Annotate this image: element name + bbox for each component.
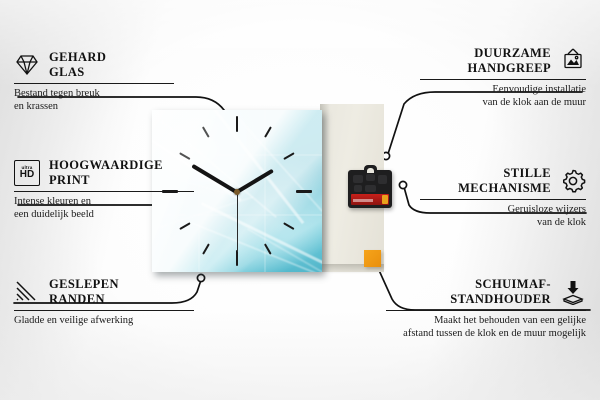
feature-description: Intense kleuren en een duidelijk beeld: [14, 196, 194, 221]
feature-title: STILLE MECHANISME: [458, 166, 551, 195]
divider: [386, 310, 586, 311]
feature-description: Eenvoudige installatie van de klok aan d…: [420, 84, 586, 109]
divider: [420, 79, 586, 80]
feature-gehard-glas: GEHARD GLAS Bestand tegen breuk en krass…: [14, 50, 174, 113]
feature-hoogwaardige-print: ultra HD HOOGWAARDIGE PRINT Intense kleu…: [14, 158, 194, 221]
feature-description: Gladde en veilige afwerking: [14, 315, 194, 328]
battery-plus-terminal: [382, 195, 388, 204]
tick-12: [236, 116, 238, 132]
mechanism-hanger-hole: [367, 168, 374, 173]
feature-duurzame-handgreep: DUURZAME HANDGREEP Eenvoudige installati…: [420, 46, 586, 109]
foam-spacer-icon: [560, 279, 586, 305]
foam-spacer: [364, 250, 381, 267]
feature-title: HOOGWAARDIGE PRINT: [49, 158, 163, 187]
ultra-hd-icon: ultra HD: [14, 160, 40, 186]
feature-title: GESLEPEN RANDEN: [49, 277, 119, 306]
tick-6: [236, 250, 238, 266]
clock-mechanism: [348, 170, 392, 208]
clock-center-hub: [234, 189, 240, 195]
battery-label-stripe: [353, 199, 373, 202]
feature-geslepen-randen: GESLEPEN RANDEN Gladde en veilige afwerk…: [14, 277, 194, 328]
feature-description: Geruisloze wijzers van de klok: [420, 204, 586, 229]
diamond-icon: [14, 52, 40, 78]
diagonal-lines-icon: [14, 279, 40, 305]
feature-title: DUURZAME HANDGREEP: [468, 46, 551, 75]
connector-dot-mechanisme: [399, 181, 406, 188]
divider: [14, 191, 194, 192]
divider: [420, 199, 586, 200]
connector-dot-randen: [197, 274, 204, 281]
hanging-picture-icon: [560, 48, 586, 74]
feature-description: Bestand tegen breuk en krassen: [14, 88, 174, 113]
feature-title: GEHARD GLAS: [49, 50, 106, 79]
tick-3: [296, 190, 312, 193]
gear-icon: [560, 168, 586, 194]
infographic-canvas: GEHARD GLAS Bestand tegen breuk en krass…: [0, 0, 600, 400]
feature-description: Maakt het behouden van een gelijke afsta…: [386, 315, 586, 340]
feature-title: SCHUIMAF- STANDHOUDER: [450, 277, 551, 306]
feature-stille-mechanisme: STILLE MECHANISME Geruisloze wijzers van…: [420, 166, 586, 229]
divider: [14, 83, 174, 84]
divider: [14, 310, 194, 311]
clock-second-hand: [237, 190, 238, 252]
feature-schuimafstandhouder: SCHUIMAF- STANDHOUDER Maakt het behouden…: [386, 277, 586, 340]
hd-label: HD: [20, 170, 34, 180]
